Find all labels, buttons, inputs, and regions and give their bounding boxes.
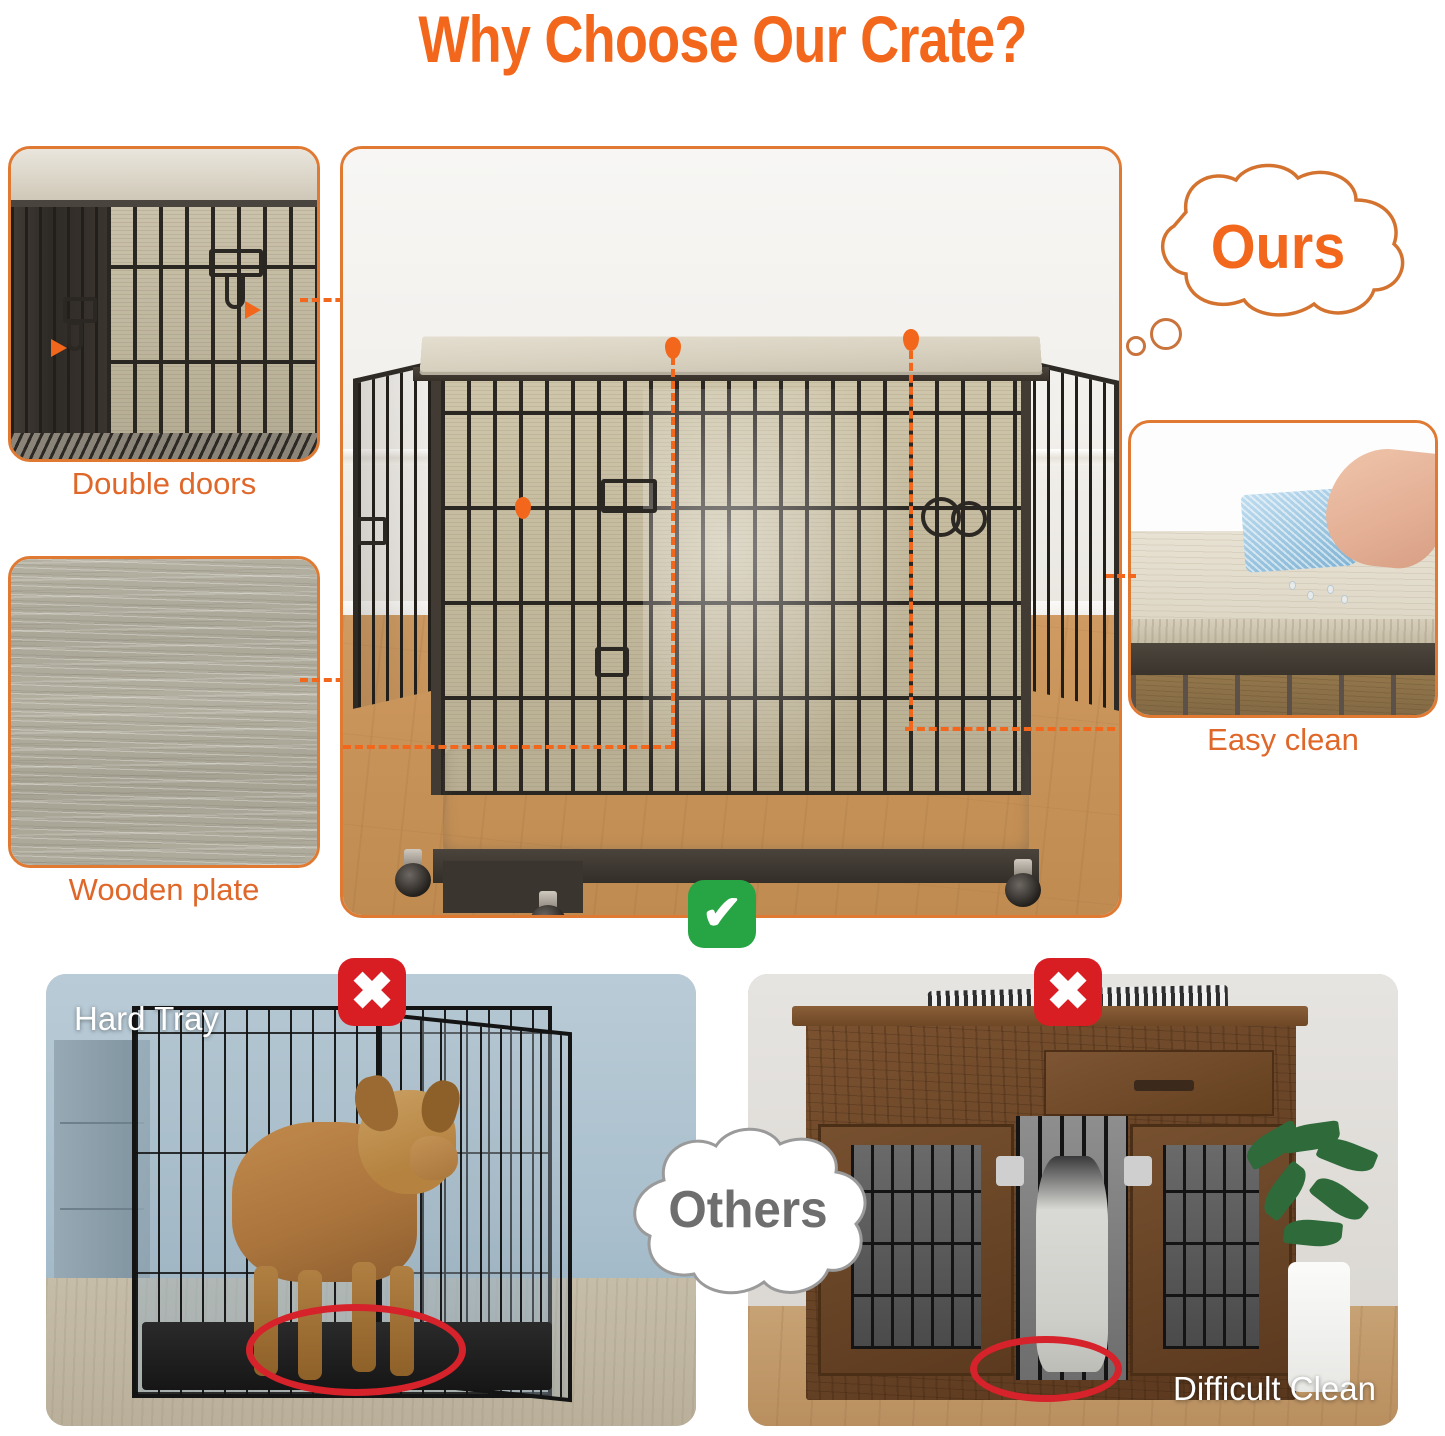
crate-side-door bbox=[11, 201, 107, 459]
latch-icon bbox=[67, 321, 83, 351]
callout-line-right-h bbox=[905, 727, 1122, 731]
callout-line-center bbox=[671, 345, 675, 749]
latch-icon bbox=[357, 517, 387, 545]
crate-lower-wood-bars bbox=[1131, 675, 1435, 715]
double-doors-photo bbox=[11, 149, 317, 459]
water-droplet-icon bbox=[1341, 595, 1348, 604]
x-badge-hard-tray: ✖ bbox=[338, 958, 406, 1026]
caster-wheel bbox=[1003, 859, 1043, 907]
panel-double-doors bbox=[8, 146, 320, 462]
callout-line-center-h bbox=[343, 745, 673, 749]
hinge-icon bbox=[996, 1156, 1024, 1186]
crate-right-door-bars bbox=[1033, 366, 1114, 710]
label-easy-clean: Easy clean bbox=[1128, 722, 1438, 758]
water-droplet-icon bbox=[1307, 591, 1314, 600]
latch-icon bbox=[225, 273, 245, 309]
crate-back-wood bbox=[107, 207, 317, 459]
caster-wheel bbox=[528, 891, 568, 918]
hinge-icon bbox=[1124, 1156, 1152, 1186]
wood-grain-swatch bbox=[11, 559, 317, 865]
others-label: Others bbox=[626, 1180, 869, 1240]
crate-metal-band bbox=[1131, 643, 1435, 677]
plant-leaf-icon bbox=[1308, 1171, 1370, 1227]
water-droplet-icon bbox=[1289, 581, 1296, 590]
hero-product-photo bbox=[340, 146, 1122, 918]
label-hard-tray: Hard Tray bbox=[74, 1000, 219, 1038]
label-wooden-plate: Wooden plate bbox=[8, 872, 320, 908]
infographic-page: Why Choose Our Crate? Double doors bbox=[0, 0, 1445, 1436]
latch-icon bbox=[63, 297, 97, 323]
label-double-doors: Double doors bbox=[8, 466, 320, 502]
callout-line-clean bbox=[1106, 574, 1136, 578]
bubble-icon bbox=[1150, 318, 1182, 350]
arrow-right-icon bbox=[245, 301, 261, 319]
photo-hard-tray: Hard Tray bbox=[46, 974, 696, 1426]
dog-bed-cushion bbox=[443, 747, 1029, 859]
cabinet-drawer bbox=[1044, 1050, 1274, 1116]
page-title: Why Choose Our Crate? bbox=[130, 4, 1315, 75]
plant-leaf-icon bbox=[1315, 1132, 1379, 1178]
latch-icon bbox=[951, 501, 987, 537]
plant-leaf-icon bbox=[1283, 1217, 1343, 1249]
problem-highlight-ellipse bbox=[970, 1336, 1122, 1402]
crate-bars-horizontal bbox=[107, 207, 317, 459]
drawer-pull-icon bbox=[1134, 1080, 1194, 1091]
close-icon: ✖ bbox=[1034, 958, 1102, 1026]
crate-top-edge-wood bbox=[1131, 619, 1435, 645]
close-icon: ✖ bbox=[338, 958, 406, 1026]
ours-thought-bubble: Ours bbox=[1128, 160, 1428, 325]
crate-highlight bbox=[643, 389, 913, 789]
plant-leaf-icon bbox=[1257, 1160, 1313, 1222]
others-thought-bubble: Others bbox=[620, 1118, 876, 1304]
problem-highlight-ellipse bbox=[246, 1304, 466, 1396]
arrow-right-icon bbox=[51, 339, 67, 357]
crate-wood-top bbox=[11, 149, 317, 207]
caster-wheel bbox=[393, 849, 433, 897]
label-difficult-clean: Difficult Clean bbox=[1173, 1370, 1376, 1408]
potted-plant bbox=[1244, 1124, 1394, 1280]
check-badge: ✔ bbox=[688, 880, 756, 948]
crate-wood-tabletop bbox=[420, 336, 1043, 372]
dog-snout bbox=[410, 1136, 458, 1180]
crate-floor-grate bbox=[11, 433, 317, 459]
check-icon: ✔ bbox=[688, 880, 756, 948]
panel-easy-clean bbox=[1128, 420, 1438, 718]
x-badge-difficult-clean: ✖ bbox=[1034, 958, 1102, 1026]
callout-line-right bbox=[909, 339, 913, 729]
latch-icon bbox=[601, 479, 657, 513]
crate-side-bars bbox=[11, 201, 107, 459]
water-droplet-icon bbox=[1327, 585, 1334, 594]
latch-icon bbox=[595, 647, 629, 677]
bubble-icon bbox=[1126, 336, 1146, 356]
crate-right-door bbox=[1033, 361, 1119, 711]
ours-label: Ours bbox=[1139, 212, 1418, 283]
panel-wooden-plate bbox=[8, 556, 320, 868]
